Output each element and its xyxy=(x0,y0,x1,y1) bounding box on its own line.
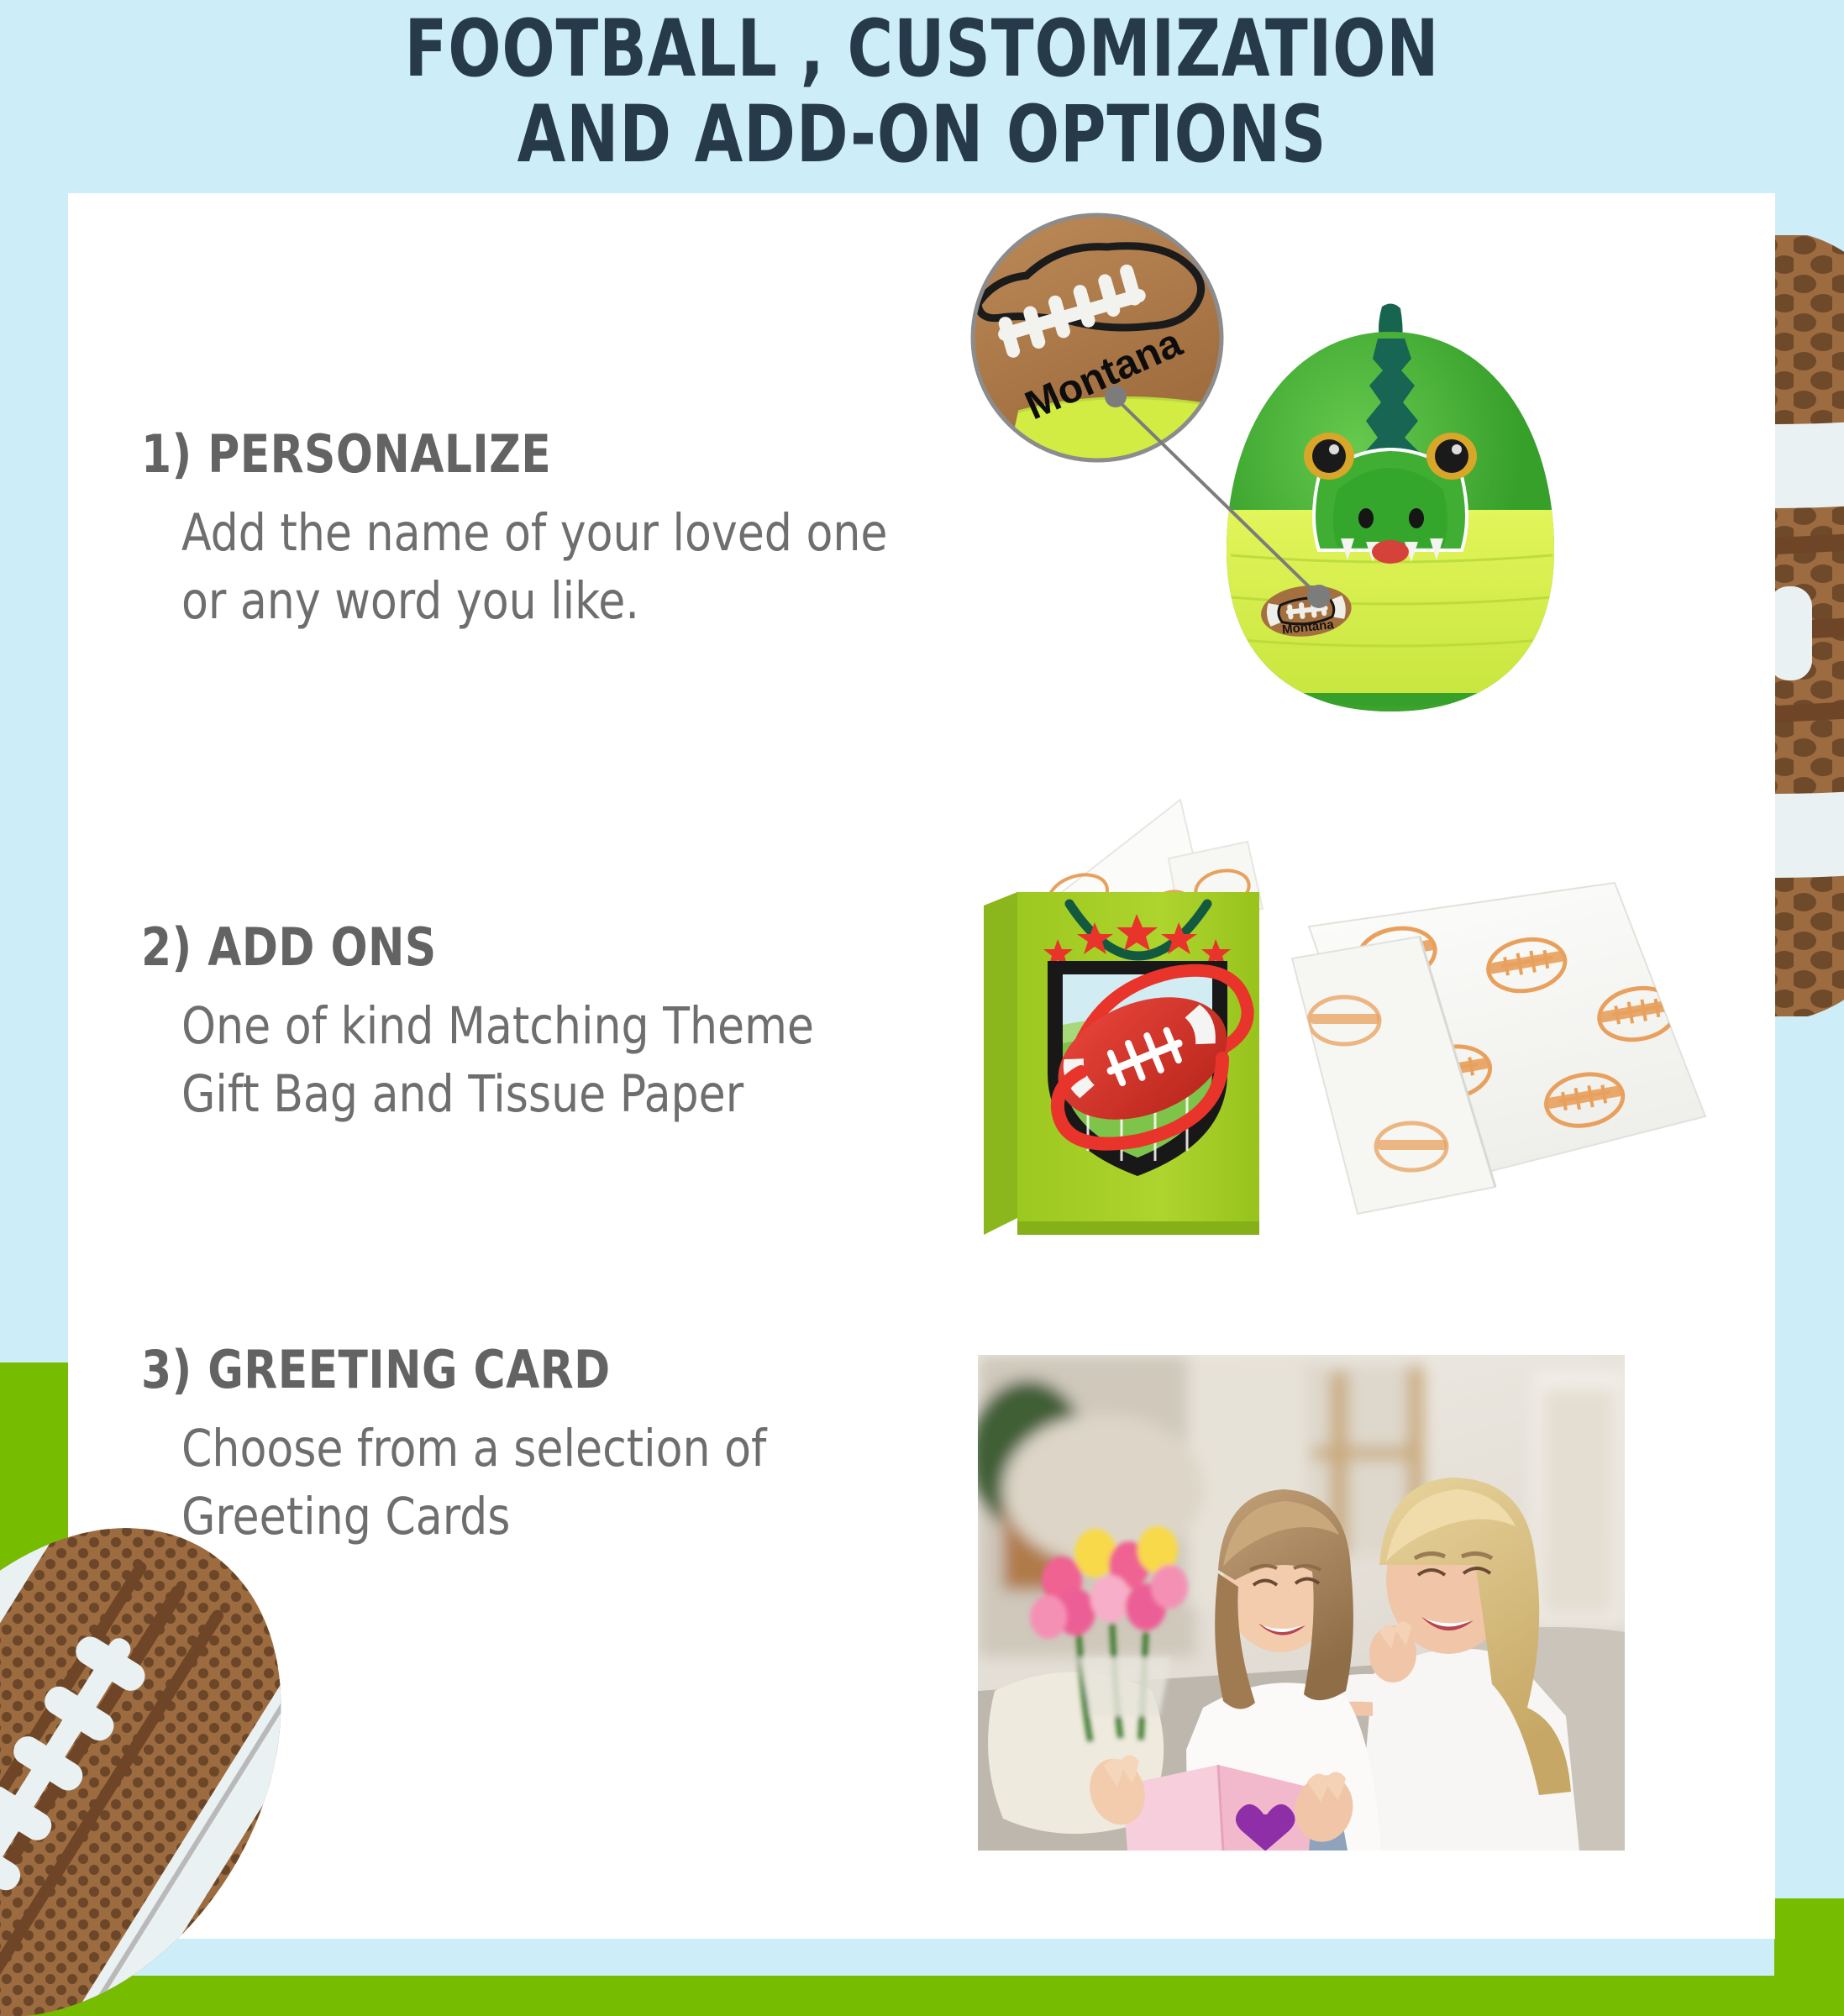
step-2-body-line-1: One of kind Matching Theme xyxy=(181,993,814,1061)
step-3-heading: 3) GREETING CARD xyxy=(141,1342,751,1397)
step-3-body-line-2: Greeting Cards xyxy=(181,1483,766,1551)
step-2-add-ons: 2) ADD ONS One of kind Matching Theme Gi… xyxy=(141,920,848,1128)
dinosaur-plush-image: Montana xyxy=(1210,298,1571,735)
step-1-body-line-2: or any word you like. xyxy=(181,568,887,636)
magnifier-bubble-football-patch: Montana xyxy=(968,210,1227,477)
page-title: FOOTBALL , CUSTOMIZATION AND ADD-ON OPTI… xyxy=(111,7,1734,177)
page-title-line-2: AND ADD-ON OPTIONS xyxy=(111,92,1734,178)
step-2-body-line-2: Gift Bag and Tissue Paper xyxy=(181,1061,814,1129)
step-3-body: Choose from a selection of Greeting Card… xyxy=(181,1415,766,1551)
step-3-greeting-card: 3) GREETING CARD Choose from a selection… xyxy=(141,1342,797,1551)
page-title-line-1: FOOTBALL , CUSTOMIZATION xyxy=(405,3,1440,95)
step-1-body-line-1: Add the name of your loved one xyxy=(181,500,887,568)
step-1-personalize: 1) PERSONALIZE Add the name of your love… xyxy=(141,427,925,635)
infographic-canvas: FOOTBALL , CUSTOMIZATION AND ADD-ON OPTI… xyxy=(0,0,1844,2016)
step-2-body: One of kind Matching Theme Gift Bag and … xyxy=(181,993,814,1128)
football-gift-bag-image xyxy=(970,781,1306,1252)
step-1-body: Add the name of your loved one or any wo… xyxy=(181,500,887,635)
step-1-heading: 1) PERSONALIZE xyxy=(141,427,869,481)
mother-daughter-greeting-card-photo xyxy=(978,1355,1625,1851)
background-green-right xyxy=(1774,1898,1844,2016)
step-2-heading: 2) ADD ONS xyxy=(141,920,798,974)
step-3-body-line-1: Choose from a selection of xyxy=(181,1415,766,1483)
football-tissue-paper-image xyxy=(1285,878,1714,1231)
decorative-football-bottom-left xyxy=(0,1504,336,2016)
